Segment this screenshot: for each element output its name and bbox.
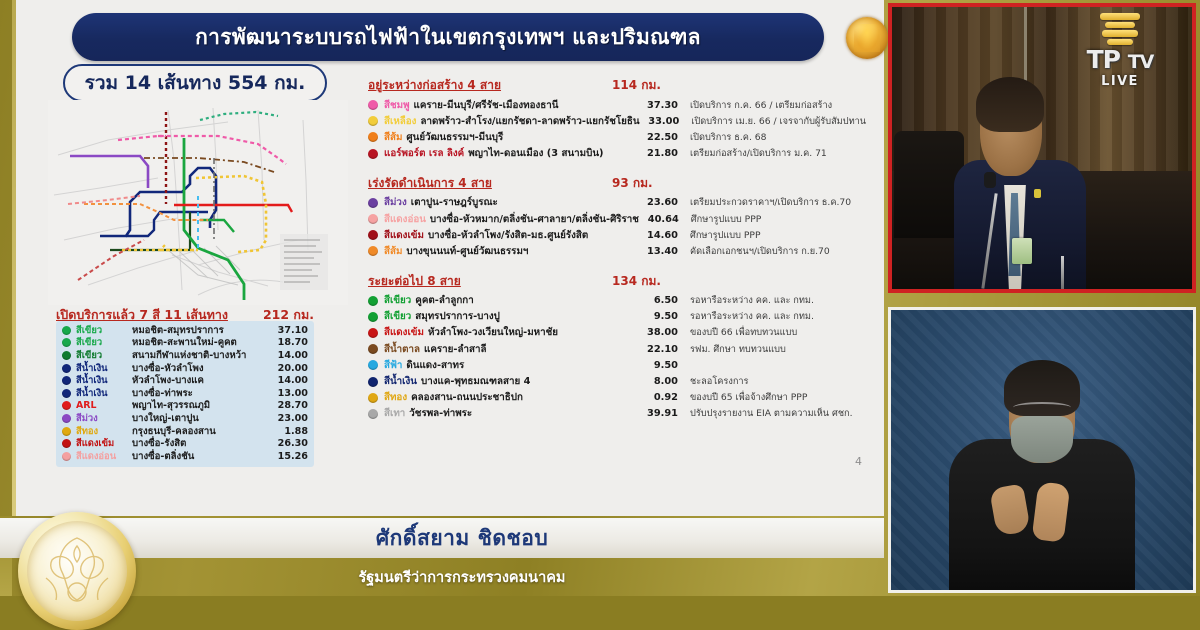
line-distance-km: 9.50 [638, 311, 678, 322]
speaker-id-badge [1012, 238, 1032, 264]
list-item: สีส้มศูนย์วัฒนธรรมฯ-มีนบุรี22.50เปิดบริก… [368, 129, 868, 145]
line-distance-km: 0.92 [638, 392, 678, 403]
line-distance-km: 9.50 [638, 360, 678, 371]
slide-content: การพัฒนาระบบรถไฟฟ้าในเขตกรุงเทพฯ และปริม… [16, 0, 884, 516]
line-color-name: สีแดงอ่อน [76, 449, 132, 464]
microphone-head [984, 172, 996, 188]
gold-royal-seal-icon [18, 512, 136, 630]
line-color-dot-icon [368, 100, 378, 110]
list-item: สีชมพูแคราย-มีนบุรี/ศรีรัช-เมืองทองธานี3… [368, 97, 868, 113]
line-status-note: ศึกษารูปแบบ PPP [690, 228, 868, 243]
line-color-name: สีน้ำเงิน [76, 386, 132, 401]
line-distance-km: 6.50 [638, 295, 678, 306]
line-color-dot-icon [62, 364, 71, 373]
line-status-note: ปรับปรุงรายงาน EIA ตามความเห็น ศชก. [690, 406, 868, 421]
slide-page-number: 4 [855, 455, 862, 468]
presentation-slide-panel: การพัฒนาระบบรถไฟฟ้าในเขตกรุงเทพฯ และปริม… [12, 0, 884, 516]
line-color-name: สีแดงเข้ม [384, 228, 424, 243]
group-header: เร่งรัดดำเนินการ 4 สาย93 กม. [368, 174, 868, 193]
line-color-name: สีชมพู [384, 98, 410, 113]
line-route: บางซื่อ-ตลิ่งชัน [132, 449, 272, 464]
line-distance-km: 15.26 [272, 451, 308, 462]
line-status-groups: อยู่ระหว่างก่อสร้าง 4 สาย114 กม.สีชมพูแค… [368, 76, 868, 434]
line-color-dot-icon [368, 360, 378, 370]
line-status-note: เปิดบริการ ธ.ค. 68 [690, 130, 868, 145]
total-summary-pill: รวม 14 เส้นทาง 554 กม. [63, 64, 327, 102]
line-route: ลาดพร้าว-สำโรง/แยกรัชดา-ลาดพร้าว-แยกรัชโ… [420, 114, 639, 129]
speaker-figure [954, 80, 1086, 289]
group-header: ระยะต่อไป 8 สาย134 กม. [368, 272, 868, 291]
line-color-dot-icon [62, 389, 71, 398]
group-total-km: 134 กม. [612, 272, 661, 291]
line-route: พญาไท-ดอนเมือง (3 สนามบิน) [468, 146, 603, 161]
tptv-logo-mark-icon [1092, 13, 1148, 45]
slide-header-banner: การพัฒนาระบบรถไฟฟ้าในเขตกรุงเทพฯ และปริม… [72, 13, 824, 61]
speaker-role: รัฐมนตรีว่าการกระทรวงคมนาคม [359, 566, 566, 589]
line-color-name: สีเหลือง [384, 114, 416, 129]
line-route: บางซื่อ-หัวลำโพง/รังสิต-มธ.ศูนย์รังสิต [428, 228, 588, 243]
line-color-name: สีเขียว [384, 293, 411, 308]
line-distance-km: 13.40 [638, 246, 678, 257]
line-color-dot-icon [368, 409, 378, 419]
line-color-dot-icon [62, 414, 71, 423]
line-distance-km: 28.70 [272, 400, 308, 411]
line-status-group: อยู่ระหว่างก่อสร้าง 4 สาย114 กม.สีชมพูแค… [368, 76, 868, 162]
seal-ornament [32, 526, 122, 616]
interpreter-face-mask [1011, 416, 1073, 463]
map-diagram-icon [48, 100, 348, 305]
line-distance-km: 8.00 [638, 376, 678, 387]
line-status-note: ของบปี 66 เพื่อทบทวนแบบ [690, 325, 868, 340]
group-heading: เร่งรัดดำเนินการ 4 สาย [368, 174, 612, 193]
line-color-name: สีฟ้า [384, 358, 402, 373]
channel-logo-suffix: TV [1128, 51, 1154, 73]
speaker-name: ศักดิ์สยาม ชิดชอบ [376, 522, 548, 555]
list-item: สีแดงเข้มบางซื่อ-หัวลำโพง/รังสิต-มธ.ศูนย… [368, 227, 868, 243]
line-color-dot-icon [62, 427, 71, 436]
channel-logo-text: TP TV [1062, 47, 1178, 72]
live-badge: LIVE [1062, 74, 1178, 89]
line-status-note: รฟม. ศึกษา ทบทวนแบบ [690, 342, 868, 357]
line-color-dot-icon [62, 351, 71, 360]
line-color-name: สีน้ำตาล [384, 342, 420, 357]
list-item: สีเทาวัชรพล-ท่าพระ39.91ปรับปรุงรายงาน EI… [368, 406, 868, 422]
group-heading: อยู่ระหว่างก่อสร้าง 4 สาย [368, 76, 612, 95]
line-route: คูคต-ลำลูกกา [415, 293, 473, 308]
line-color-dot-icon [62, 452, 71, 461]
speaker-lapel-pin [1034, 189, 1041, 198]
line-route: วัชรพล-ท่าพระ [409, 406, 472, 421]
line-distance-km: 20.00 [272, 363, 308, 374]
line-status-note: รอหารือระหว่าง คค. และ กทม. [690, 293, 868, 308]
channel-logo-main: TP [1087, 45, 1120, 74]
line-color-name: สีเทา [384, 406, 405, 421]
line-color-name: สีส้ม [384, 130, 402, 145]
line-distance-km: 14.60 [638, 230, 678, 241]
line-color-dot-icon [368, 214, 378, 224]
line-status-note: ชะลอโครงการ [690, 374, 868, 389]
microphone-secondary [1061, 256, 1064, 289]
speaker-hair [976, 77, 1044, 131]
line-color-dot-icon [368, 149, 378, 159]
line-color-name: สีเขียว [384, 309, 411, 324]
bangkok-rail-network-map [48, 100, 348, 305]
channel-watermark: TP TV LIVE [1062, 13, 1178, 89]
line-status-note: ศึกษารูปแบบ PPP [691, 212, 868, 227]
line-distance-km: 22.10 [638, 344, 678, 355]
royal-thai-emblem-icon [846, 17, 888, 59]
list-item: แอร์พอร์ต เรล ลิงค์พญาไท-ดอนเมือง (3 สนา… [368, 146, 868, 162]
line-distance-km: 14.00 [272, 375, 308, 386]
line-route: ศูนย์วัฒนธรรมฯ-มีนบุรี [406, 130, 503, 145]
line-route: แคราย-ลำสาลี [424, 342, 486, 357]
list-item: สีน้ำเงินบางแค-พุทธมณฑลสาย 48.00ชะลอโครง… [368, 373, 868, 389]
list-item: สีเขียวสมุทรปราการ-บางปู9.50รอหารือระหว่… [368, 309, 868, 325]
list-item: สีแดงเข้มหัวลำโพง-วงเวียนใหญ่-มหาชัย38.0… [368, 325, 868, 341]
line-status-group: ระยะต่อไป 8 สาย134 กม.สีเขียวคูคต-ลำลูกก… [368, 272, 868, 423]
line-route: สมุทรปราการ-บางปู [415, 309, 500, 324]
interpreter-glasses-icon [1013, 402, 1071, 413]
line-color-name: สีแดงอ่อน [384, 212, 426, 227]
table-row: สีแดงอ่อนบางซื่อ-ตลิ่งชัน15.26 [62, 450, 308, 463]
line-color-name: สีทอง [384, 390, 407, 405]
line-route: บางซื่อ-หัวหมาก/ตลิ่งชัน-ศาลายา/ตลิ่งชัน… [430, 212, 639, 227]
line-status-note: เตรียมก่อสร้าง/เปิดบริการ ม.ค. 71 [690, 146, 868, 161]
line-distance-km: 18.70 [272, 337, 308, 348]
line-route: หัวลำโพง-วงเวียนใหญ่-มหาชัย [428, 325, 558, 340]
sign-language-interpreter-video[interactable] [888, 307, 1196, 593]
line-distance-km: 37.30 [638, 100, 678, 111]
line-color-dot-icon [368, 344, 378, 354]
line-color-dot-icon [62, 338, 71, 347]
group-heading: ระยะต่อไป 8 สาย [368, 272, 612, 291]
list-item: สีฟ้าดินแดง-สาทร9.50 [368, 357, 868, 373]
line-color-name: ARL [76, 400, 132, 411]
line-distance-km: 23.60 [638, 197, 678, 208]
line-color-name: สีน้ำเงิน [384, 374, 417, 389]
line-status-group: เร่งรัดดำเนินการ 4 สาย93 กม.สีม่วงเตาปูน… [368, 174, 868, 260]
line-color-dot-icon [368, 377, 378, 387]
line-distance-km: 14.00 [272, 350, 308, 361]
interpreter-figure [949, 355, 1135, 590]
list-item: สีน้ำตาลแคราย-ลำสาลี22.10รฟม. ศึกษา ทบทว… [368, 341, 868, 357]
list-item: สีเหลืองลาดพร้าว-สำโรง/แยกรัชดา-ลาดพร้าว… [368, 113, 868, 129]
line-route: บางแค-พุทธมณฑลสาย 4 [421, 374, 530, 389]
line-distance-km: 21.80 [638, 148, 678, 159]
line-status-note: เปิดบริการ ก.ค. 66 / เตรียมก่อสร้าง [690, 98, 868, 113]
group-total-km: 93 กม. [612, 174, 653, 193]
line-color-dot-icon [368, 132, 378, 142]
line-color-dot-icon [62, 439, 71, 448]
line-distance-km: 1.88 [272, 426, 308, 437]
line-distance-km: 13.00 [272, 388, 308, 399]
live-video-main[interactable]: TP TV LIVE [888, 3, 1196, 293]
total-summary-label: รวม 14 เส้นทาง 554 กม. [85, 68, 306, 98]
line-distance-km: 37.10 [272, 325, 308, 336]
line-distance-km: 26.30 [272, 438, 308, 449]
line-distance-km: 33.00 [640, 116, 680, 127]
line-color-dot-icon [368, 296, 378, 306]
line-color-name: สีม่วง [384, 195, 407, 210]
line-route: ดินแดง-สาทร [406, 358, 464, 373]
line-color-dot-icon [368, 328, 378, 338]
list-item: สีทองคลองสาน-ถนนประชาธิปก0.92ของบปี 65 เ… [368, 390, 868, 406]
line-route: คลองสาน-ถนนประชาธิปก [411, 390, 523, 405]
line-color-dot-icon [62, 376, 71, 385]
line-route: เตาปูน-ราษฎร์บูรณะ [411, 195, 498, 210]
list-item: สีแดงอ่อนบางซื่อ-หัวหมาก/ตลิ่งชัน-ศาลายา… [368, 211, 868, 227]
group-total-km: 114 กม. [612, 76, 661, 95]
line-status-note: รอหารือระหว่าง คค. และ กทม. [690, 309, 868, 324]
line-status-note: ของบปี 65 เพื่อจ้างศึกษา PPP [690, 390, 868, 405]
list-item: สีม่วงเตาปูน-ราษฎร์บูรณะ23.60เตรียมประกว… [368, 195, 868, 211]
line-color-dot-icon [368, 230, 378, 240]
line-color-name: สีส้ม [384, 244, 402, 259]
line-status-note: คัดเลือกเอกชนฯ/เปิดบริการ ก.ย.70 [690, 244, 868, 259]
line-color-dot-icon [368, 312, 378, 322]
line-color-dot-icon [368, 246, 378, 256]
line-color-dot-icon [62, 326, 71, 335]
lower-third: ศักดิ์สยาม ชิดชอบ รัฐมนตรีว่าการกระทรวงค… [0, 516, 884, 596]
line-color-name: แอร์พอร์ต เรล ลิงค์ [384, 146, 464, 161]
opened-lines-table: สีเขียวหมอชิต-สมุทรปราการ37.10สีเขียวหมอ… [56, 321, 314, 467]
line-distance-km: 39.91 [638, 408, 678, 419]
line-color-dot-icon [368, 198, 378, 208]
line-distance-km: 38.00 [638, 327, 678, 338]
line-color-dot-icon [62, 401, 71, 410]
broadcast-stage: การพัฒนาระบบรถไฟฟ้าในเขตกรุงเทพฯ และปริม… [0, 0, 1200, 596]
line-distance-km: 23.00 [272, 413, 308, 424]
list-item: สีเขียวคูคต-ลำลูกกา6.50รอหารือระหว่าง คค… [368, 293, 868, 309]
line-color-dot-icon [368, 393, 378, 403]
line-color-name: สีแดงเข้ม [384, 325, 424, 340]
line-status-note: เปิดบริการ เม.ย. 66 / เจรจากับผู้รับสัมป… [691, 114, 868, 129]
list-item: สีส้มบางขุนนนท์-ศูนย์วัฒนธรรมฯ13.40คัดเล… [368, 243, 868, 259]
line-route: บางขุนนนท์-ศูนย์วัฒนธรรมฯ [406, 244, 528, 259]
page-title: การพัฒนาระบบรถไฟฟ้าในเขตกรุงเทพฯ และปริม… [195, 21, 701, 54]
line-distance-km: 40.64 [639, 214, 679, 225]
line-route: แคราย-มีนบุรี/ศรีรัช-เมืองทองธานี [414, 98, 559, 113]
group-header: อยู่ระหว่างก่อสร้าง 4 สาย114 กม. [368, 76, 868, 95]
line-distance-km: 22.50 [638, 132, 678, 143]
line-status-note: เตรียมประกวดราคาฯ/เปิดบริการ ธ.ค.70 [690, 195, 868, 210]
line-color-dot-icon [368, 116, 378, 126]
